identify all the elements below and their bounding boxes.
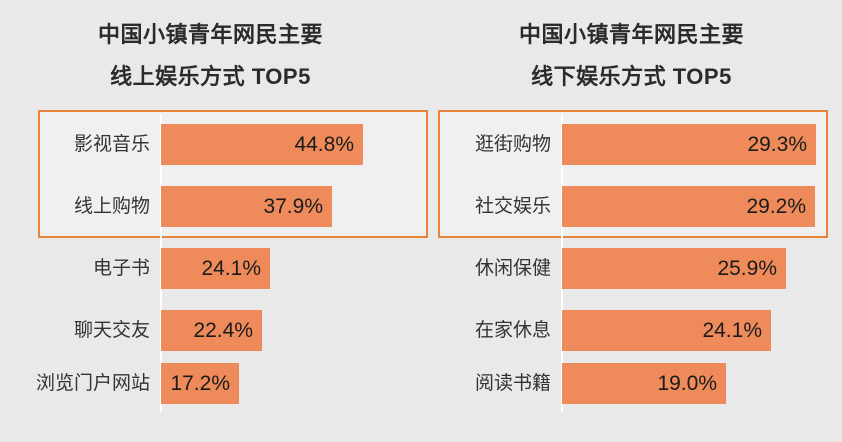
bar-row-label: 聊天交友 <box>0 310 150 351</box>
bar-value-label: 24.1% <box>702 310 762 351</box>
bar-value-label: 19.0% <box>657 363 717 404</box>
bar-track: 37.9% <box>161 186 332 227</box>
bar-row: 影视音乐 44.8% <box>0 124 421 165</box>
bar-row: 线上购物 37.9% <box>0 186 421 227</box>
bar-track: 29.2% <box>562 186 815 227</box>
chart-title-line2: 线下娱乐方式 TOP5 <box>421 56 842 98</box>
chart-title-line2: 线上娱乐方式 TOP5 <box>0 56 421 98</box>
bar-row-label: 浏览门户网站 <box>0 363 150 404</box>
bar-track: 24.1% <box>161 248 270 289</box>
bar-track: 29.3% <box>562 124 816 165</box>
bar-track: 19.0% <box>562 363 726 404</box>
chart-title-offline: 中国小镇青年网民主要 线下娱乐方式 TOP5 <box>421 14 842 98</box>
infographic-board: 中国小镇青年网民主要 线上娱乐方式 TOP5 影视音乐 44.8% 线上购物 3… <box>0 0 842 442</box>
bar-value-label: 29.2% <box>746 186 806 227</box>
bar-row: 阅读书籍 19.0% <box>421 363 842 404</box>
bar-value-label: 29.3% <box>747 124 807 165</box>
bar-row-label: 社交娱乐 <box>421 186 551 227</box>
bar-row: 浏览门户网站 17.2% <box>0 363 421 404</box>
bar-row: 社交娱乐 29.2% <box>421 186 842 227</box>
bar-row: 在家休息 24.1% <box>421 310 842 351</box>
bar-row-label: 逛街购物 <box>421 124 551 165</box>
chart-panel-online: 中国小镇青年网民主要 线上娱乐方式 TOP5 影视音乐 44.8% 线上购物 3… <box>0 0 421 442</box>
bar-row-label: 电子书 <box>0 248 150 289</box>
bar-chart-offline: 逛街购物 29.3% 社交娱乐 29.2% 休闲保健 25.9% 在家休息 <box>421 110 842 412</box>
bar-row: 休闲保健 25.9% <box>421 248 842 289</box>
bar-chart-online: 影视音乐 44.8% 线上购物 37.9% 电子书 24.1% 聊天交友 <box>0 110 421 412</box>
bar-row-label: 休闲保健 <box>421 248 551 289</box>
bar-value-label: 37.9% <box>263 186 323 227</box>
chart-panel-offline: 中国小镇青年网民主要 线下娱乐方式 TOP5 逛街购物 29.3% 社交娱乐 2… <box>421 0 842 442</box>
bar-value-label: 24.1% <box>201 248 261 289</box>
bar-row-label: 线上购物 <box>0 186 150 227</box>
chart-title-line1: 中国小镇青年网民主要 <box>421 14 842 56</box>
bar-value-label: 22.4% <box>193 310 253 351</box>
chart-title-line1: 中国小镇青年网民主要 <box>0 14 421 56</box>
bar-row: 电子书 24.1% <box>0 248 421 289</box>
chart-title-online: 中国小镇青年网民主要 线上娱乐方式 TOP5 <box>0 14 421 98</box>
bar-value-label: 17.2% <box>170 363 230 404</box>
bar-track: 44.8% <box>161 124 363 165</box>
bar-row: 聊天交友 22.4% <box>0 310 421 351</box>
bar-row: 逛街购物 29.3% <box>421 124 842 165</box>
bar-track: 24.1% <box>562 310 771 351</box>
bar-track: 22.4% <box>161 310 262 351</box>
bar-value-label: 25.9% <box>717 248 777 289</box>
bar-row-label: 阅读书籍 <box>421 363 551 404</box>
bar-value-label: 44.8% <box>294 124 354 165</box>
bar-row-label: 在家休息 <box>421 310 551 351</box>
bar-row-label: 影视音乐 <box>0 124 150 165</box>
bar-track: 25.9% <box>562 248 786 289</box>
bar-track: 17.2% <box>161 363 239 404</box>
